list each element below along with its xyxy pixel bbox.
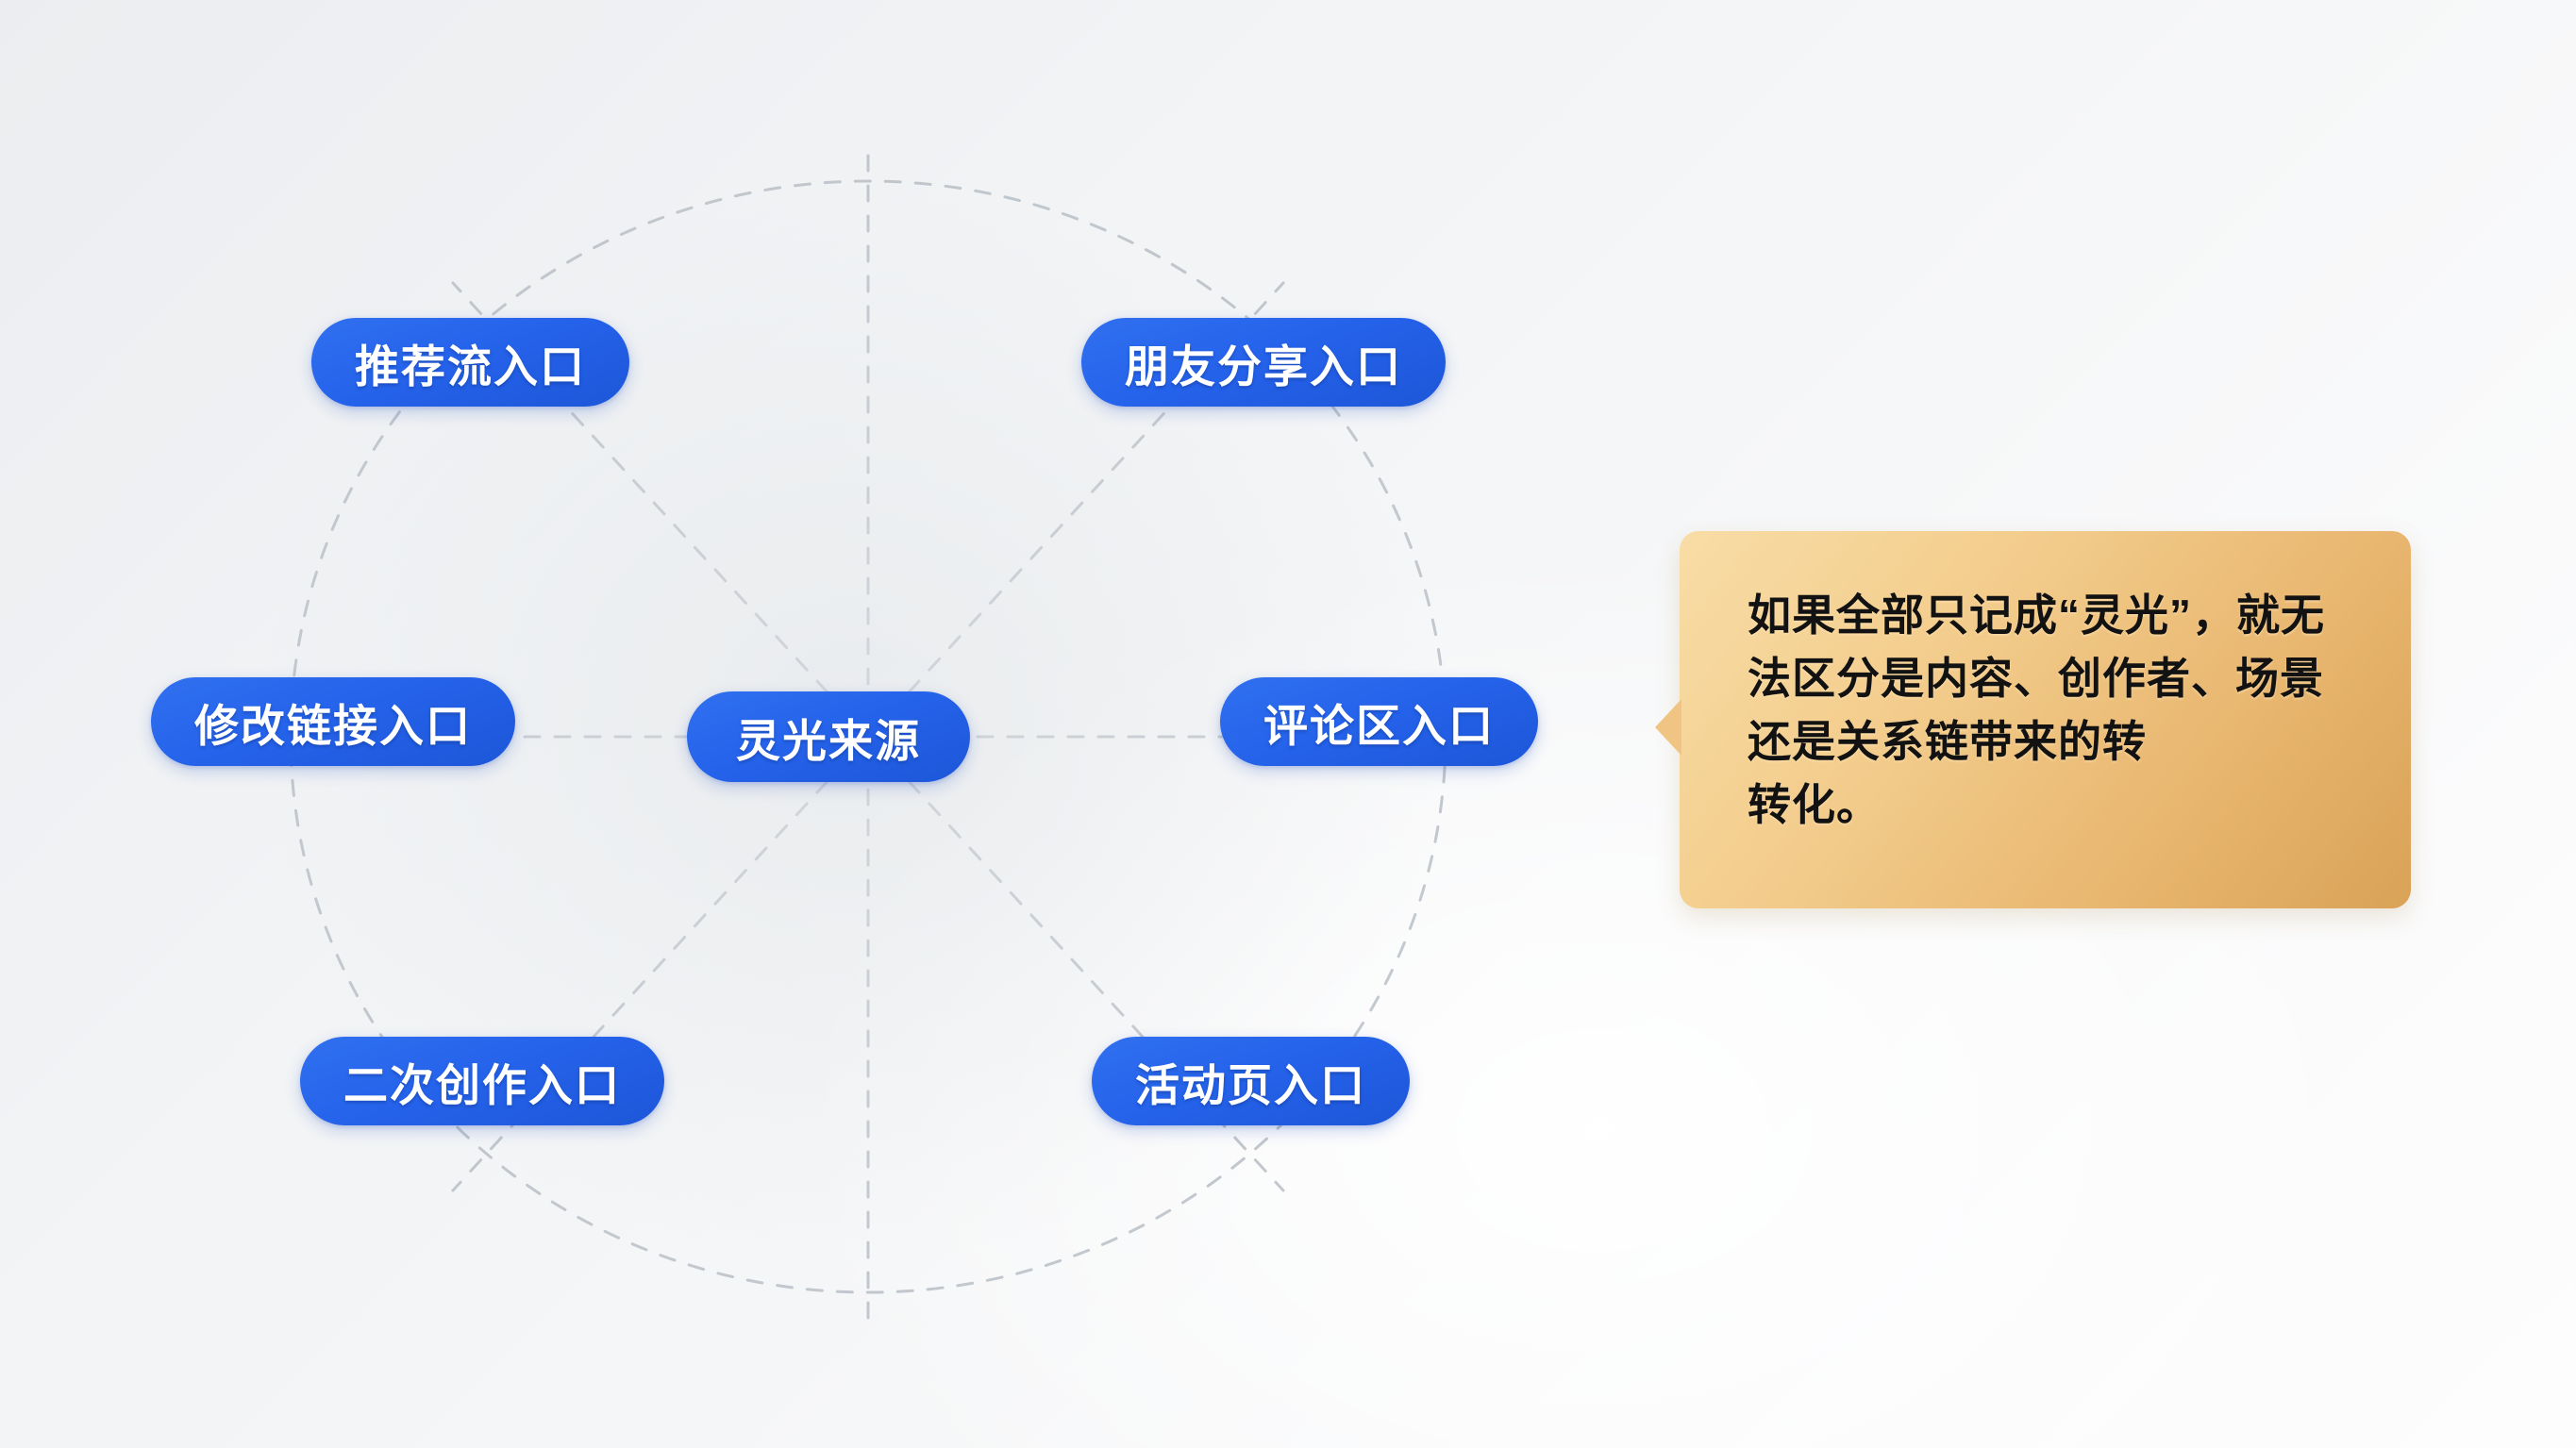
- node-activity-page-entry[interactable]: 活动页入口: [1092, 1037, 1410, 1125]
- node-center-source[interactable]: 灵光来源: [687, 691, 970, 782]
- diagram-canvas: 灵光来源 推荐流入口 朋友分享入口 修改链接入口 评论区入口 二次创作入口 活动…: [0, 0, 2576, 1448]
- annotation-callout: 如果全部只记成“灵光”，就无法区分是内容、创作者、场景还是关系链带来的转 转化。: [1680, 531, 2411, 908]
- node-secondary-creation-entry[interactable]: 二次创作入口: [300, 1037, 664, 1125]
- node-edit-link-entry[interactable]: 修改链接入口: [151, 677, 515, 766]
- node-comment-area-entry[interactable]: 评论区入口: [1220, 677, 1538, 766]
- callout-text: 如果全部只记成“灵光”，就无法区分是内容、创作者、场景还是关系链带来的转 转化。: [1748, 584, 2356, 838]
- callout-pointer-icon: [1655, 699, 1681, 756]
- node-friend-share-entry[interactable]: 朋友分享入口: [1081, 318, 1446, 407]
- node-recommend-feed-entry[interactable]: 推荐流入口: [311, 318, 629, 407]
